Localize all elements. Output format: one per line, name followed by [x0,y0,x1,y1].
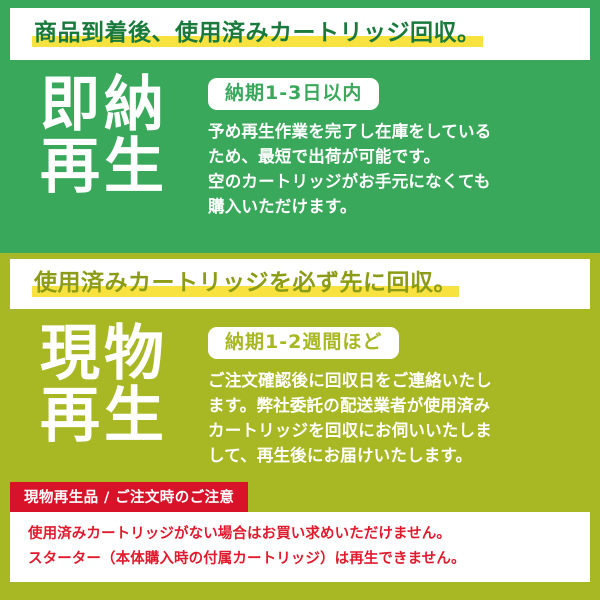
badge-delivery-genbutsu: 納期1-2週間ほど [208,327,399,359]
notice-text-line-2: スターター（本体購入時の付属カートリッジ）は再生できません。 [28,547,590,571]
notice-text-line-1: 使用済みカートリッジがない場合はお買い求めいただけません。 [28,522,590,546]
paragraph-genbutsu-line-4: して、再生後にお届けいたします。 [208,443,590,468]
promo-poster: 商品到着後、使用済みカートリッジ回収。 即納 再生 納期1-3日以内 予め再生作… [0,0,600,600]
big-label-genbutsu-line-1: 現物 [40,323,208,385]
paragraph-genbutsu-line-3: カートリッジを回収にお伺いいたしま [208,418,590,443]
notice-box: 使用済みカートリッジがない場合はお買い求めいただけません。 スターター（本体購入… [10,512,590,582]
paragraph-sokuno-line-2: ため、最短で出荷が可能です。 [208,144,590,169]
paragraph-genbutsu-line-1: ご注文確認後に回収日をご連絡いたし [208,368,590,393]
big-label-genbutsu-line-2: 再生 [40,385,208,447]
heading-band-sokuno: 商品到着後、使用済みカートリッジ回収。 [10,8,590,60]
heading-sokuno: 商品到着後、使用済みカートリッジ回収。 [32,21,483,46]
section-genbutsu: 使用済みカートリッジを必ず先に回収。 現物 再生 納期1-2週間ほど ご注文確認… [0,253,600,600]
section-content-sokuno: 納期1-3日以内 予め再生作業を完了し在庫をしている ため、最短で出荷が可能です… [208,74,590,219]
section-body-genbutsu: 現物 再生 納期1-2週間ほど ご注文確認後に回収日をご連絡いたし ます。弊社委… [10,309,590,468]
section-body-sokuno: 即納 再生 納期1-3日以内 予め再生作業を完了し在庫をしている ため、最短で出… [10,60,590,219]
big-label-sokuno-line-2: 再生 [40,136,208,198]
big-label-genbutsu: 現物 再生 [22,323,208,448]
paragraph-genbutsu: ご注文確認後に回収日をご連絡いたし ます。弊社委託の配送業者が使用済み カートリ… [208,368,590,468]
section-content-genbutsu: 納期1-2週間ほど ご注文確認後に回収日をご連絡いたし ます。弊社委託の配送業者… [208,323,590,468]
heading-genbutsu: 使用済みカートリッジを必ず先に回収。 [32,271,459,296]
badge-delivery-sokuno: 納期1-3日以内 [208,78,379,110]
heading-band-genbutsu: 使用済みカートリッジを必ず先に回収。 [10,259,590,309]
big-label-sokuno: 即納 再生 [22,74,208,199]
section-sokuno: 商品到着後、使用済みカートリッジ回収。 即納 再生 納期1-3日以内 予め再生作… [0,0,600,253]
notice-section: 現物再生品 / ご注文時のご注意 使用済みカートリッジがない場合はお買い求めいた… [10,482,590,582]
paragraph-sokuno-line-3: 空のカートリッジがお手元になくても [208,169,590,194]
paragraph-sokuno-line-4: 購入いただけます。 [208,194,590,219]
paragraph-sokuno: 予め再生作業を完了し在庫をしている ため、最短で出荷が可能です。 空のカートリッ… [208,119,590,219]
big-label-sokuno-line-1: 即納 [40,74,208,136]
notice-text: 使用済みカートリッジがない場合はお買い求めいただけません。 スターター（本体購入… [28,522,590,571]
paragraph-sokuno-line-1: 予め再生作業を完了し在庫をしている [208,119,590,144]
notice-label: 現物再生品 / ご注文時のご注意 [10,482,248,512]
paragraph-genbutsu-line-2: ます。弊社委託の配送業者が使用済み [208,393,590,418]
